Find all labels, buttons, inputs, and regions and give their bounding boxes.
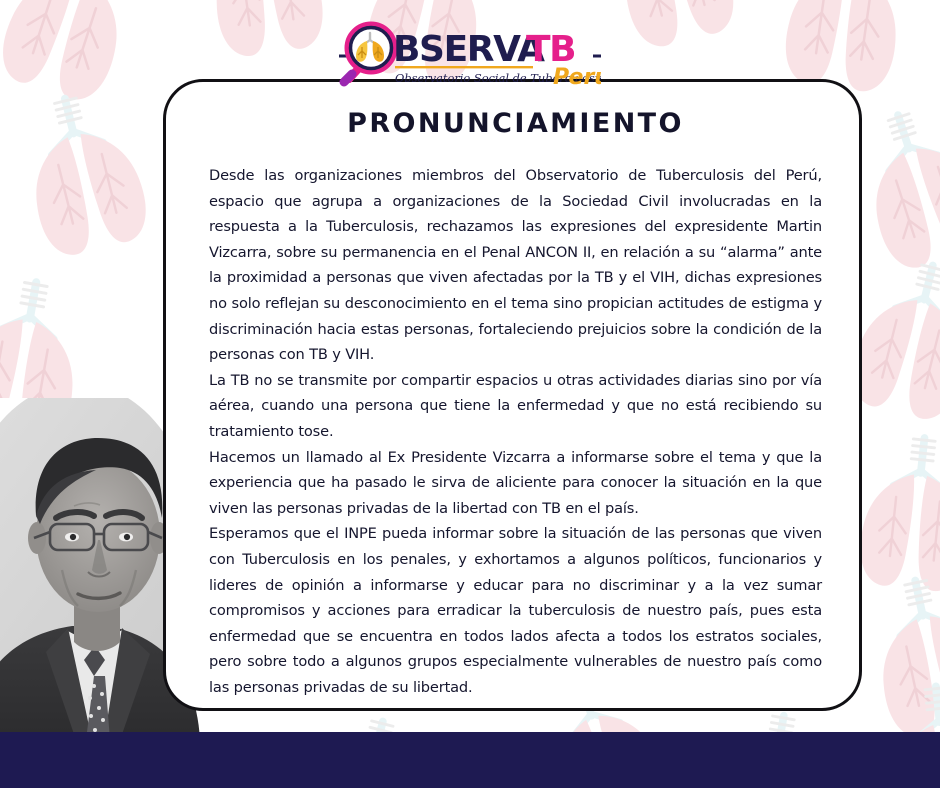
paragraph-4: Esperamos que el INPE pueda informar sob… (209, 521, 822, 700)
card-content: PRONUNCIAMIENTO Desde las organizaciones… (209, 108, 822, 760)
paragraph-2: La TB no se transmite por compartir espa… (209, 368, 822, 445)
logo-wordmark-tb: TB (526, 29, 575, 70)
logo-wordmark-observa: BSERVA (393, 29, 545, 70)
observatb-peru-logo-svg: BSERVA TB Observatorio Social de Tubercu… (339, 16, 601, 88)
pronouncement-card: PRONUNCIAMIENTO Desde las organizaciones… (163, 79, 862, 711)
paragraph-1: Desde las organizaciones miembros del Ob… (209, 163, 822, 368)
brand-logo: BSERVA TB Observatorio Social de Tubercu… (0, 16, 940, 88)
magnifier-lungs-icon (344, 24, 395, 82)
footer-bar (0, 732, 940, 788)
logo-country: Perú (553, 65, 601, 88)
logo-underline (395, 66, 533, 68)
paragraph-3: Hacemos un llamado al Ex Presidente Vizc… (209, 445, 822, 522)
page-title: PRONUNCIAMIENTO (209, 108, 822, 139)
